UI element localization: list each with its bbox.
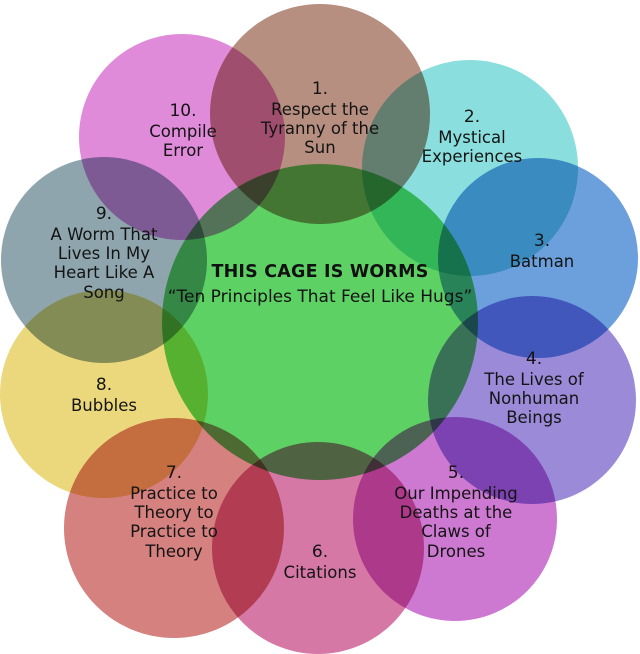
petal-number-10: 10. — [84, 101, 282, 121]
petal-label-7: 7.Practice to Theory to Practice to Theo… — [68, 444, 279, 561]
petal-number-5: 5. — [358, 463, 554, 483]
petal-number-3: 3. — [446, 231, 638, 251]
petal-text-7: Practice to Theory to Practice to Theory — [130, 484, 218, 561]
center-subtitle: “Ten Principles That Feel Like Hugs” — [160, 287, 479, 308]
petal-label-4: 4.The Lives of Nonhuman Beings — [434, 330, 634, 428]
petal-text-10: Compile Error — [149, 122, 216, 160]
petal-text-4: The Lives of Nonhuman Beings — [484, 370, 583, 428]
petal-number-9: 9. — [5, 204, 203, 224]
petal-number-7: 7. — [68, 463, 279, 483]
venn-diagram: 1.Respect the Tyranny of the Sun 2.Mysti… — [0, 0, 640, 647]
petal-number-2: 2. — [368, 107, 575, 127]
center-title: THIS CAGE IS WORMS — [160, 262, 479, 284]
petal-number-4: 4. — [434, 349, 634, 369]
petal-text-2: Mystical Experiences — [422, 128, 523, 166]
petal-number-8: 8. — [4, 375, 204, 395]
petal-label-8: 8.Bubbles — [4, 356, 204, 415]
petal-text-9: A Worm That Lives In My Heart Like A Son… — [51, 225, 158, 302]
petal-label-2: 2.Mystical Experiences — [368, 88, 575, 166]
petal-text-8: Bubbles — [71, 396, 137, 415]
petal-label-10: 10.Compile Error — [84, 82, 282, 160]
petal-text-3: Batman — [510, 252, 575, 271]
center-label: THIS CAGE IS WORMS “Ten Principles That … — [160, 262, 479, 308]
petal-text-6: Citations — [284, 563, 357, 582]
